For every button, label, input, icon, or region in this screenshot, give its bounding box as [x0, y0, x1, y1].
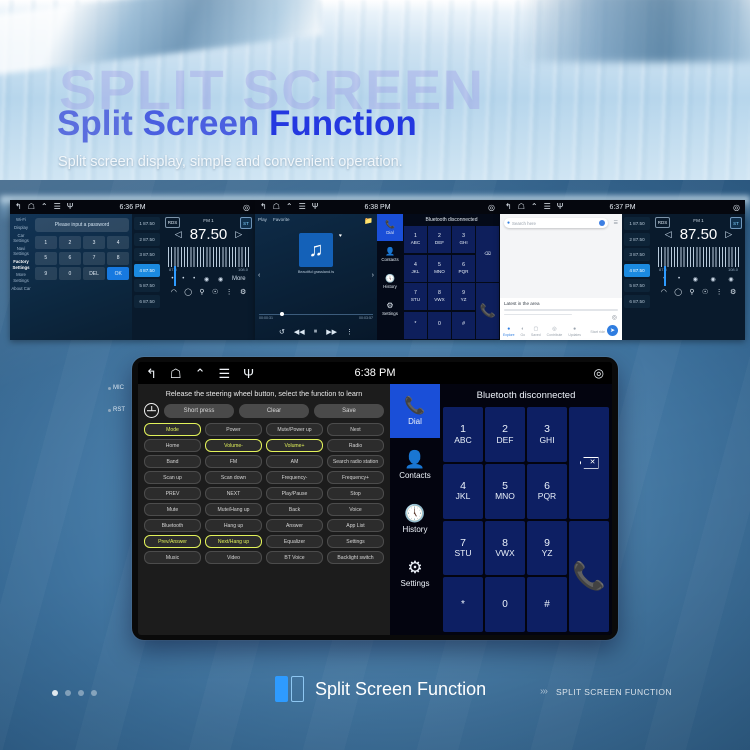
carousel-dots[interactable] [52, 690, 97, 696]
tab-play[interactable]: Play [258, 217, 267, 222]
seek-bar[interactable]: 00:00:31 00:03:57 [259, 314, 373, 320]
swl-action-row: Short press Clear Save [144, 403, 384, 418]
sidebar-item-more-settings[interactable]: More Settings [11, 272, 31, 283]
thumb2-body: Play Favorite 📁 ♫ ♥ Beautiful grassland.… [255, 214, 500, 340]
swl-function-button[interactable]: Prev/Answer [144, 535, 201, 548]
map-tab-contribute[interactable]: ◎Contribute [547, 326, 563, 337]
scan-icon[interactable]: ◯ [184, 288, 192, 296]
bluetooth-status: Bluetooth disconnected [403, 214, 500, 226]
time-total: 00:03:57 [359, 316, 373, 320]
swl-function-button[interactable]: BT Voice [266, 551, 323, 564]
search-pin-icon: ● [507, 220, 510, 226]
swl-function-button[interactable]: Answer [266, 519, 323, 532]
person-icon: 👤 [404, 451, 425, 468]
preset-3[interactable]: 3 87.50 [134, 248, 160, 261]
key-9[interactable]: 9 [35, 267, 57, 280]
thumb3-radio-main: RDS ST FM 1 ◁ 87.50 ▷ 87.5 108.0 [652, 214, 745, 340]
tune-down-icon[interactable]: ◁ [175, 229, 182, 240]
key-delete[interactable]: DEL [83, 267, 105, 280]
dx-icon[interactable]: • [182, 276, 184, 283]
location-pin-icon[interactable]: ◎ [733, 203, 740, 212]
swl-function-button[interactable]: Mode [144, 423, 201, 436]
thumb3-statusbar: ↰ ☖ ⌃ ☰ Ψ 6:37 PM ◎ [500, 200, 745, 214]
preset-6[interactable]: 6 87.50 [134, 295, 160, 308]
key-5[interactable]: 5 [35, 252, 57, 265]
car-icon: ◐ [521, 326, 524, 332]
swl-function-button[interactable]: Power [205, 423, 262, 436]
dial-key-5[interactable]: 5MNO [428, 255, 451, 282]
settings-icon[interactable]: ⚙ [240, 288, 246, 296]
menu-icon[interactable]: ☰ [218, 367, 230, 380]
nav-dial[interactable]: 📞Dial [377, 214, 403, 241]
footer-caption: SPLIT SCREEN FUNCTION [556, 687, 672, 697]
sidebar-item-contacts[interactable]: 👤 Contacts [390, 438, 440, 492]
swl-function-button[interactable]: Band [144, 455, 201, 468]
tune-down-icon[interactable]: ◁ [665, 229, 672, 240]
dial-key-6[interactable]: 6PQR [452, 255, 475, 282]
swl-function-button[interactable]: Back [266, 503, 323, 516]
hero-title-word-2: Screen [143, 104, 260, 143]
thumb1-settings-pane[interactable]: Wi-Fi Display Car Settings Navi Settings… [10, 214, 132, 340]
sidebar-item-label: Contacts [399, 471, 431, 480]
carousel-dot[interactable] [52, 690, 58, 696]
radio-secondary-icons[interactable]: • • • ◉ ◉ More [165, 272, 252, 283]
hero-title-word-3: Function [269, 104, 417, 143]
pin-icon: ● [507, 326, 510, 332]
key-3[interactable]: 3 [83, 236, 105, 249]
steering-wheel-learning-panel: Release the steering wheel button, selec… [138, 384, 390, 635]
sidebar-item-about-car[interactable]: About Car [11, 286, 31, 291]
swl-function-button[interactable]: Mute/Power up [266, 423, 323, 436]
sidebar-item-display[interactable]: Display [11, 225, 31, 230]
swl-function-button[interactable]: Search radio station [327, 455, 384, 468]
key-4[interactable]: 4 [107, 236, 129, 249]
settings-icon[interactable]: ⚙ [730, 288, 736, 296]
thumb2-keypad[interactable]: 1ABC 2DEF 3GHI ⌫ 4JKL 5MNO 6PQR 7STU 8VW… [403, 226, 500, 340]
swl-function-grid[interactable]: ModePowerMute/Power upNextHomeVolume-Vol… [144, 423, 384, 564]
ta-icon[interactable]: ◉ [711, 276, 716, 283]
search-icon[interactable]: ⚲ [199, 288, 204, 296]
swl-function-button[interactable]: PREV [144, 487, 201, 500]
thumbnail-music-dial[interactable]: ↰ ☖ ⌃ ☰ Ψ 6:38 PM ◎ Play Favorite 📁 ♫ ♥ … [255, 200, 500, 340]
swl-function-button[interactable]: Scan down [205, 471, 262, 484]
gear-icon: ⚙ [386, 301, 393, 310]
heart-icon[interactable]: ♥ [339, 233, 342, 239]
sidebar-item-factory-settings[interactable]: Factory Settings [11, 259, 31, 270]
radio-frequency: 87.50 [190, 226, 228, 243]
tuning-cursor [174, 266, 176, 286]
thumb3-presets[interactable]: 1 87.50 2 87.50 3 87.50 4 87.50 5 87.50 … [622, 214, 652, 340]
bell-icon: ● [573, 326, 576, 332]
scan-icon[interactable]: ◯ [674, 288, 682, 296]
dial-key-2[interactable]: 2DEF [485, 407, 525, 462]
carousel-dot[interactable] [65, 690, 71, 696]
album-art: ♫ ♥ [299, 233, 333, 267]
chevrons-icon: ››› [540, 686, 547, 697]
device-screen: ↰ ☖ ⌃ ☰ Ψ 6:38 PM ◎ Release the steering… [138, 362, 612, 635]
preset-4[interactable]: 4 87.50 [624, 264, 650, 277]
thumb3-radio-pane[interactable]: 1 87.50 2 87.50 3 87.50 4 87.50 5 87.50 … [622, 214, 745, 340]
dial-key-2[interactable]: 2DEF [428, 226, 451, 253]
thumb1-settings-nav[interactable]: Wi-Fi Display Car Settings Navi Settings… [10, 214, 32, 340]
back-icon[interactable]: ↰ [260, 203, 267, 211]
person-icon: 👤 [385, 247, 395, 256]
footer-caption-block: ››› SPLIT SCREEN FUNCTION [540, 686, 672, 697]
chevron-up-icon[interactable]: ⌃ [286, 203, 293, 211]
track-times: 00:00:31 00:03:57 [259, 316, 373, 320]
dial-keypad[interactable]: 1ABC 2DEF 3GHI ✕ 4JKL 5MNO 6PQR 7STU 8VW… [440, 407, 612, 635]
split-screen-icon [275, 676, 304, 702]
prev-track-icon[interactable]: ‹ [258, 272, 260, 279]
preset-3[interactable]: 3 87.50 [624, 248, 650, 261]
menu-icon[interactable]: ☰ [54, 203, 61, 211]
dial-key-3[interactable]: 3GHI [452, 226, 475, 253]
dial-key-0[interactable]: 0 [485, 577, 525, 632]
nav-dial-label: Dial [386, 230, 394, 235]
music-tabs[interactable]: Play Favorite [258, 217, 374, 222]
call-green-icon: 📞 [572, 563, 606, 590]
system-statusbar: ↰ ☖ ⌃ ☰ Ψ 6:38 PM ◎ [138, 362, 612, 384]
map-start-label[interactable]: Start ride [590, 330, 605, 334]
preset-1[interactable]: 1 87.50 [624, 217, 650, 230]
radio-toolbar[interactable]: ◠ ◯ ⚲ ☉ ⋮ ⚙ [165, 283, 252, 296]
tune-up-icon[interactable]: ▷ [235, 229, 242, 240]
key-8[interactable]: 8 [107, 252, 129, 265]
swl-function-button[interactable]: Mute [144, 503, 201, 516]
swl-function-button[interactable]: Hang up [205, 519, 262, 532]
dial-key-hash[interactable]: # [527, 577, 567, 632]
dial-key-star[interactable]: * [443, 577, 483, 632]
nav-history-label: History [383, 284, 397, 289]
swl-function-button[interactable]: Radio [327, 439, 384, 452]
globe-icon[interactable]: ☉ [212, 288, 218, 296]
menu-icon[interactable]: ☰ [299, 203, 306, 211]
dial-key-5[interactable]: 5MNO [485, 464, 525, 519]
tab-favorite[interactable]: Favorite [273, 217, 290, 222]
plus-circle-icon: ◎ [552, 326, 556, 332]
location-pin-icon[interactable]: ◎ [243, 203, 250, 212]
call-log-icon: 🕔 [385, 274, 395, 283]
dial-content: Bluetooth disconnected 1ABC 2DEF 3GHI ✕ … [440, 384, 612, 635]
af-icon[interactable]: ◉ [693, 276, 698, 283]
thumbnail-strip: ↰ ☖ ⌃ ☰ Ψ 6:36 PM ◎ Wi-Fi Display Car Se… [10, 200, 745, 340]
sidebar-item-label: Dial [408, 417, 422, 426]
swl-function-button[interactable]: Frequency+ [327, 471, 384, 484]
swl-function-button[interactable]: NEXT [205, 487, 262, 500]
preset-2[interactable]: 2 87.50 [134, 233, 160, 246]
preset-2[interactable]: 2 87.50 [624, 233, 650, 246]
swl-function-button[interactable]: Video [205, 551, 262, 564]
swl-function-button[interactable]: Next/Hang up [205, 535, 262, 548]
thumb3-map-pane[interactable]: ● Search here ☰ Latest in the area ●Expl… [500, 214, 622, 340]
ta-icon[interactable]: ◉ [204, 276, 209, 283]
menu-icon[interactable]: ☰ [544, 203, 551, 211]
nav-settings[interactable]: ⚙Settings [377, 295, 403, 322]
swl-function-button[interactable]: Settings [327, 535, 384, 548]
dial-key-call[interactable]: 📞 [569, 521, 609, 633]
rds-badge[interactable]: RDS [165, 217, 180, 228]
radio-secondary-icons[interactable]: • • ◉ ◉ ◉ [655, 272, 742, 283]
swl-function-button[interactable]: Scan up [144, 471, 201, 484]
avatar[interactable] [599, 220, 605, 226]
map-card-line [504, 314, 572, 316]
nav-settings-label: Settings [382, 311, 398, 316]
radio-frequency-row: ◁ 87.50 ▷ [655, 226, 742, 243]
home-icon[interactable]: ☖ [170, 367, 182, 380]
thumbnail-map-radio[interactable]: ↰ ☖ ⌃ ☰ Ψ 6:37 PM ◎ ● Search here ☰ Late… [500, 200, 745, 340]
call-log-icon: 🕔 [404, 505, 425, 522]
location-pin-icon[interactable]: ◎ [594, 366, 604, 380]
tuning-dial[interactable] [658, 247, 739, 267]
track-name: Beautiful grassland.ts [258, 270, 374, 274]
location-pin-icon[interactable]: ◎ [488, 203, 495, 212]
swl-function-button[interactable]: Equalizer [266, 535, 323, 548]
thumb2-dial-pane[interactable]: 📞Dial 👤Contacts 🕔History ⚙Settings Bluet… [377, 214, 500, 340]
signal-icon[interactable]: ◠ [661, 288, 667, 296]
map-search-input[interactable]: ● Search here [504, 218, 608, 228]
dial-key-0[interactable]: 0 [428, 312, 451, 339]
dx-icon[interactable]: • [678, 276, 680, 283]
map-tab-explore[interactable]: ●Explore [503, 326, 515, 337]
steering-wheel-icon [144, 403, 159, 418]
sidebar-item-car-settings[interactable]: Car Settings [11, 233, 31, 244]
bluetooth-status-text: Bluetooth disconnected [440, 384, 612, 407]
swl-function-button[interactable]: Frequency- [266, 471, 323, 484]
stereo-badge[interactable]: ST [240, 217, 252, 229]
tune-up-icon[interactable]: ▷ [725, 229, 732, 240]
swl-function-button[interactable]: Home [144, 439, 201, 452]
key-6[interactable]: 6 [59, 252, 81, 265]
map-menu-icon[interactable]: ☰ [614, 220, 618, 226]
key-1[interactable]: 1 [35, 236, 57, 249]
dial-key-backspace[interactable]: ⌫ [476, 226, 499, 282]
thumb1-radio-main: RDS ST FM 1 ◁ 87.50 ▷ 87.5 108.0 [162, 214, 255, 340]
thumb2-statusbar: ↰ ☖ ⌃ ☰ Ψ 6:38 PM ◎ [255, 200, 500, 214]
dial-key-1[interactable]: 1ABC [443, 407, 483, 462]
key-7[interactable]: 7 [83, 252, 105, 265]
sidebar-item-settings[interactable]: ⚙ Settings [390, 546, 440, 600]
map-search-placeholder: Search here [512, 221, 536, 226]
pause-icon[interactable]: ⏸ [314, 328, 318, 336]
dial-key-4[interactable]: 4JKL [443, 464, 483, 519]
dial-key-star[interactable]: * [404, 312, 427, 339]
swl-function-button[interactable]: Music [144, 551, 201, 564]
statusbar-clock: 6:38 PM [355, 367, 396, 379]
back-icon[interactable]: ↰ [15, 203, 22, 211]
dial-key-4[interactable]: 4JKL [404, 255, 427, 282]
nav-history[interactable]: 🕔History [377, 268, 403, 295]
map-card-title: Latest in the area [504, 301, 618, 306]
nav-contacts[interactable]: 👤Contacts [377, 241, 403, 268]
signal-icon[interactable]: ◠ [171, 288, 177, 296]
preset-4[interactable]: 4 87.50 [134, 264, 160, 277]
swl-function-button[interactable]: Backlight switch [327, 551, 384, 564]
key-2[interactable]: 2 [59, 236, 81, 249]
bluetooth-dial-panel: 📞 Dial 👤 Contacts 🕔 History ⚙ Settings [390, 384, 612, 635]
equalizer-icon[interactable]: ⋮ [716, 288, 723, 296]
chevron-up-icon[interactable]: ⌃ [195, 367, 206, 380]
dial-key-hash[interactable]: # [452, 312, 475, 339]
swl-function-button[interactable]: AM [266, 455, 323, 468]
more-label[interactable]: More [232, 276, 246, 283]
dial-key-9[interactable]: 9YZ [452, 283, 475, 310]
preset-1[interactable]: 1 87.50 [134, 217, 160, 230]
thumb2-time: 6:38 PM [364, 204, 390, 211]
sidebar-item-history[interactable]: 🕔 History [390, 492, 440, 546]
dial-key-backspace[interactable]: ✕ [569, 407, 609, 519]
back-icon[interactable]: ↰ [505, 203, 512, 211]
phone-icon: 📞 [385, 220, 395, 229]
swl-instruction-text: Release the steering wheel button, selec… [144, 389, 384, 398]
tuning-dial[interactable] [168, 247, 249, 267]
reset-label: RST [108, 407, 132, 413]
radio-frequency-row: ◁ 87.50 ▷ [165, 226, 252, 243]
hero-subtitle: Split screen display, simple and conveni… [58, 154, 403, 170]
radio-frequency: 87.50 [680, 226, 718, 243]
head-unit-device: MIC RST ↰ ☖ ⌃ ☰ Ψ 6:38 PM ◎ Release the … [132, 357, 618, 640]
bookmark-icon: ▢ [533, 326, 538, 332]
thumb1-presets[interactable]: 1 87.50 2 87.50 3 87.50 4 87.50 5 87.50 … [132, 214, 162, 340]
stereo-badge[interactable]: ST [730, 217, 742, 229]
swl-function-button[interactable]: Stop [327, 487, 384, 500]
preset-6[interactable]: 6 87.50 [624, 295, 650, 308]
usb-icon[interactable]: Ψ [312, 203, 319, 211]
rewind-icon[interactable]: ◀◀ [294, 328, 305, 336]
key-ok[interactable]: OK [107, 267, 129, 280]
usb-icon[interactable]: Ψ [243, 367, 254, 380]
thumbnail-settings-radio[interactable]: ↰ ☖ ⌃ ☰ Ψ 6:36 PM ◎ Wi-Fi Display Car Se… [10, 200, 255, 340]
clear-button[interactable]: Clear [239, 404, 309, 418]
home-icon[interactable]: ☖ [28, 203, 35, 211]
sidebar-item-label: History [403, 525, 428, 534]
dial-key-6[interactable]: 6PQR [527, 464, 567, 519]
map-card-line [504, 309, 618, 311]
dial-sidebar[interactable]: 📞 Dial 👤 Contacts 🕔 History ⚙ Settings [390, 384, 440, 635]
footer-branding: Split Screen Function [275, 676, 486, 702]
back-icon[interactable]: ↰ [146, 367, 157, 380]
equalizer-icon[interactable]: ⋮ [226, 288, 233, 296]
radio-toolbar[interactable]: ◠ ◯ ⚲ ☉ ⋮ ⚙ [655, 283, 742, 296]
preset-5[interactable]: 5 87.50 [134, 279, 160, 292]
thumb2-music-pane[interactable]: Play Favorite 📁 ♫ ♥ Beautiful grassland.… [255, 214, 377, 340]
af-icon[interactable]: • [193, 276, 195, 283]
chevron-up-icon[interactable]: ⌃ [531, 203, 538, 211]
sidebar-item-label: Settings [401, 579, 430, 588]
footer-title: Split Screen Function [315, 679, 486, 700]
thumb1-password-pane: Please input a password 1 2 3 4 5 6 7 8 … [32, 214, 132, 340]
swl-function-button[interactable]: Play/Pause [266, 487, 323, 500]
swl-function-button[interactable]: Next [327, 423, 384, 436]
mic-label: MIC [108, 385, 132, 391]
page-title: Split Screen Function [57, 106, 417, 141]
home-icon[interactable]: ☖ [273, 203, 280, 211]
thumb2-dial-nav[interactable]: 📞Dial 👤Contacts 🕔History ⚙Settings [377, 214, 403, 340]
thumb1-statusbar: ↰ ☖ ⌃ ☰ Ψ 6:36 PM ◎ [10, 200, 255, 214]
dial-key-8[interactable]: 8VWX [485, 521, 525, 576]
short-press-button[interactable]: Short press [164, 404, 234, 418]
playlist-icon[interactable]: ⋮ [346, 328, 353, 336]
carousel-dot[interactable] [91, 690, 97, 696]
split-screen-container: Release the steering wheel button, selec… [138, 384, 612, 635]
map-info-card: Latest in the area ●Explore ◐Go ▢Saved ◎… [500, 298, 622, 340]
map-navigate-button[interactable]: ➤ [607, 325, 618, 336]
swl-function-button[interactable]: Bluetooth [144, 519, 201, 532]
swl-function-button[interactable]: FM [205, 455, 262, 468]
swl-function-button[interactable]: Volume- [205, 439, 262, 452]
sidebar-item-dial[interactable]: 📞 Dial [390, 384, 440, 438]
thumb1-radio-pane[interactable]: 1 87.50 2 87.50 3 87.50 4 87.50 5 87.50 … [132, 214, 255, 340]
background-sky-right-band [520, 0, 750, 62]
device-side-labels: MIC RST [108, 385, 132, 429]
dial-key-9[interactable]: 9YZ [527, 521, 567, 576]
password-input[interactable]: Please input a password [35, 218, 129, 232]
my-location-icon[interactable]: ◎ [612, 314, 617, 321]
thumb1-time: 6:36 PM [119, 204, 145, 211]
scale-high: 108.0 [238, 267, 248, 272]
dial-key-1[interactable]: 1ABC [404, 226, 427, 253]
map-tabs[interactable]: ●Explore ◐Go ▢Saved ◎Contribute ●Updates [503, 326, 581, 337]
forward-icon[interactable]: ▶▶ [326, 328, 337, 336]
gear-icon: ⚙ [407, 559, 422, 576]
carousel-dot[interactable] [78, 690, 84, 696]
hero-title-word-1: Split [57, 104, 133, 143]
usb-icon[interactable]: Ψ [557, 203, 564, 211]
tuning-cursor [664, 266, 666, 286]
sidebar-item-wifi[interactable]: Wi-Fi [11, 217, 31, 222]
thumb1-body: Wi-Fi Display Car Settings Navi Settings… [10, 214, 255, 340]
pty-icon[interactable]: ◉ [728, 276, 733, 283]
phone-icon: 📞 [404, 397, 425, 414]
repeat-icon[interactable]: ↺ [279, 328, 285, 336]
save-button[interactable]: Save [314, 404, 384, 418]
map-tab-updates[interactable]: ●Updates [568, 326, 581, 337]
folder-icon[interactable]: 📁 [364, 217, 373, 225]
sidebar-item-navi-settings[interactable]: Navi Settings [11, 246, 31, 257]
dial-key-7[interactable]: 7STU [443, 521, 483, 576]
thumb1-keypad[interactable]: 1 2 3 4 5 6 7 8 9 0 DEL OK [35, 236, 129, 280]
search-icon[interactable]: ⚲ [689, 288, 694, 296]
chevron-up-icon[interactable]: ⌃ [41, 203, 48, 211]
home-icon[interactable]: ☖ [518, 203, 525, 211]
thumb3-body: ● Search here ☰ Latest in the area ●Expl… [500, 214, 745, 340]
nav-contacts-label: Contacts [381, 257, 398, 262]
pty-icon[interactable]: ◉ [218, 276, 223, 283]
swl-function-button[interactable]: Mute/Hang up [205, 503, 262, 516]
music-controls[interactable]: ↺ ◀◀ ⏸ ▶▶ ⋮ [255, 328, 377, 336]
rds-badge[interactable]: RDS [655, 217, 670, 228]
thumb3-time: 6:37 PM [609, 204, 635, 211]
map-tab-go[interactable]: ◐Go [521, 326, 526, 337]
preset-5[interactable]: 5 87.50 [624, 279, 650, 292]
dial-key-3[interactable]: 3GHI [527, 407, 567, 462]
swl-function-button[interactable]: Voice [327, 503, 384, 516]
swl-function-button[interactable]: Volume+ [266, 439, 323, 452]
next-track-icon[interactable]: › [372, 272, 374, 279]
time-elapsed: 00:00:31 [259, 316, 273, 320]
dial-key-call[interactable]: 📞 [476, 283, 499, 339]
dial-key-7[interactable]: 7STU [404, 283, 427, 310]
dial-key-8[interactable]: 8VWX [428, 283, 451, 310]
scale-high: 108.0 [728, 267, 738, 272]
key-0[interactable]: 0 [59, 267, 81, 280]
globe-icon[interactable]: ☉ [702, 288, 708, 296]
backspace-icon: ✕ [580, 457, 599, 469]
swl-function-button[interactable]: App List [327, 519, 384, 532]
map-tab-saved[interactable]: ▢Saved [531, 326, 541, 337]
usb-icon[interactable]: Ψ [67, 203, 74, 211]
thumb2-dial-right: Bluetooth disconnected 1ABC 2DEF 3GHI ⌫ … [403, 214, 500, 340]
